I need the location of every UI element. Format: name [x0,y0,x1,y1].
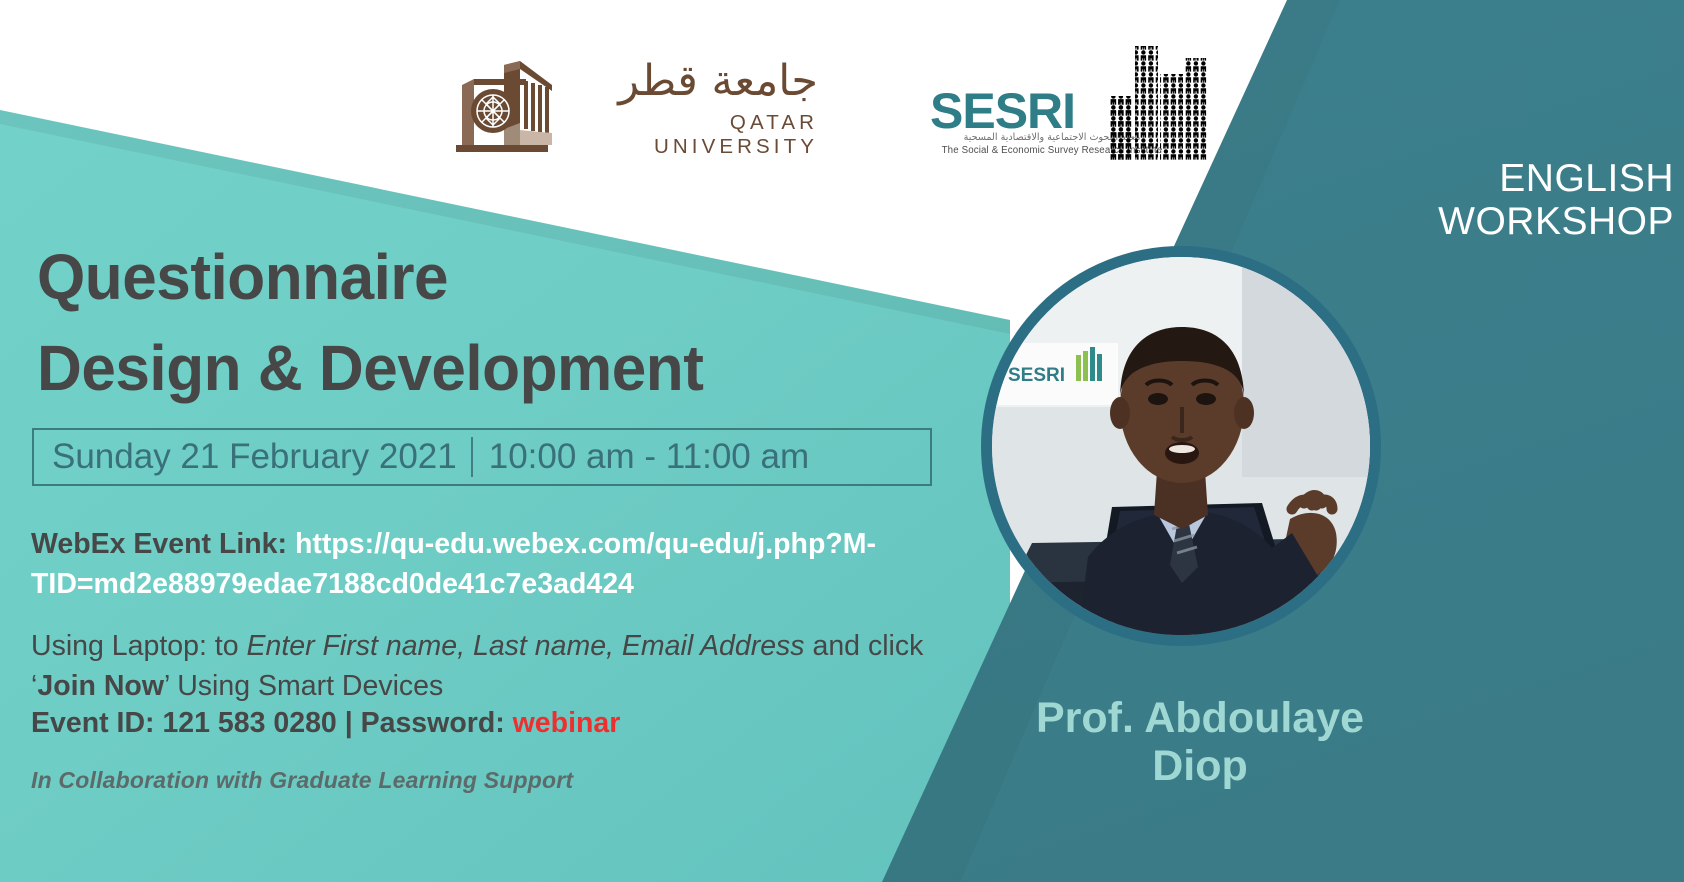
workshop-badge-line1: ENGLISH [1344,158,1674,201]
speaker-portrait-image: SESRI [992,257,1370,635]
logo-row: جامعة قطر QATAR UNIVERSITY SESRI معهد ال… [0,0,1684,180]
join-instructions-part3: ’ Using Smart Devices [164,670,443,702]
credentials-divider: | [337,707,361,739]
qatar-university-emblem-icon [448,59,563,155]
page-title-line2: Design & Development [37,323,881,414]
sesri-logo: SESRI معهد البحوث الاجتماعية والاقتصادية… [930,28,1220,160]
workshop-badge: ENGLISH WORKSHOP [1344,158,1674,244]
sesri-people-bars-icon [1110,28,1220,160]
schedule-box: Sunday 21 February 2021 10:00 am - 11:00… [32,428,932,486]
poster-canvas: جامعة قطر QATAR UNIVERSITY SESRI معهد ال… [0,0,1684,882]
event-id-value: 121 583 0280 [162,707,336,739]
webex-label: WebEx Event Link: [31,528,295,560]
event-id-label: Event ID: [31,707,162,739]
qatar-university-arabic: جامعة قطر [576,55,818,109]
speaker-name-line1: Prof. Abdoulaye [960,694,1440,742]
join-instructions-fields: Enter First name, Last name, Email Addre… [246,630,804,662]
webex-url-line2[interactable]: TID=md2e88979edae7188cd0de41c7e3ad424 [31,568,634,600]
webex-link-block: WebEx Event Link: https://qu-edu.webex.c… [31,524,961,605]
collaboration-note: In Collaboration with Graduate Learning … [31,767,831,794]
workshop-badge-line2: WORKSHOP [1344,201,1674,244]
svg-text:SESRI: SESRI [1008,365,1065,386]
qatar-university-wordmark: جامعة قطر QATAR UNIVERSITY [576,55,818,155]
webex-url-line1[interactable]: https://qu-edu.webex.com/qu-edu/j.php?M- [295,528,876,560]
password-value: webinar [513,707,621,739]
qatar-university-english: QATAR UNIVERSITY [576,111,818,159]
page-title-line1: Questionnaire [37,232,881,323]
join-now-label: Join Now [37,670,164,702]
qatar-university-logo: جامعة قطر QATAR UNIVERSITY [448,55,818,160]
event-credentials: Event ID: 121 583 0280 | Password: webin… [31,703,966,743]
password-label: Password: [361,707,513,739]
page-title: Questionnaire Design & Development [37,232,881,414]
speaker-avatar: SESRI [981,246,1381,646]
schedule-date: Sunday 21 February 2021 [34,437,471,477]
join-instructions-part1: Using Laptop: to [31,630,246,662]
schedule-time: 10:00 am - 11:00 am [473,437,809,477]
speaker-name-line2: Diop [960,742,1440,790]
speaker-name: Prof. Abdoulaye Diop [960,694,1440,790]
join-instructions: Using Laptop: to Enter First name, Last … [31,626,966,707]
schedule-divider [471,437,473,477]
